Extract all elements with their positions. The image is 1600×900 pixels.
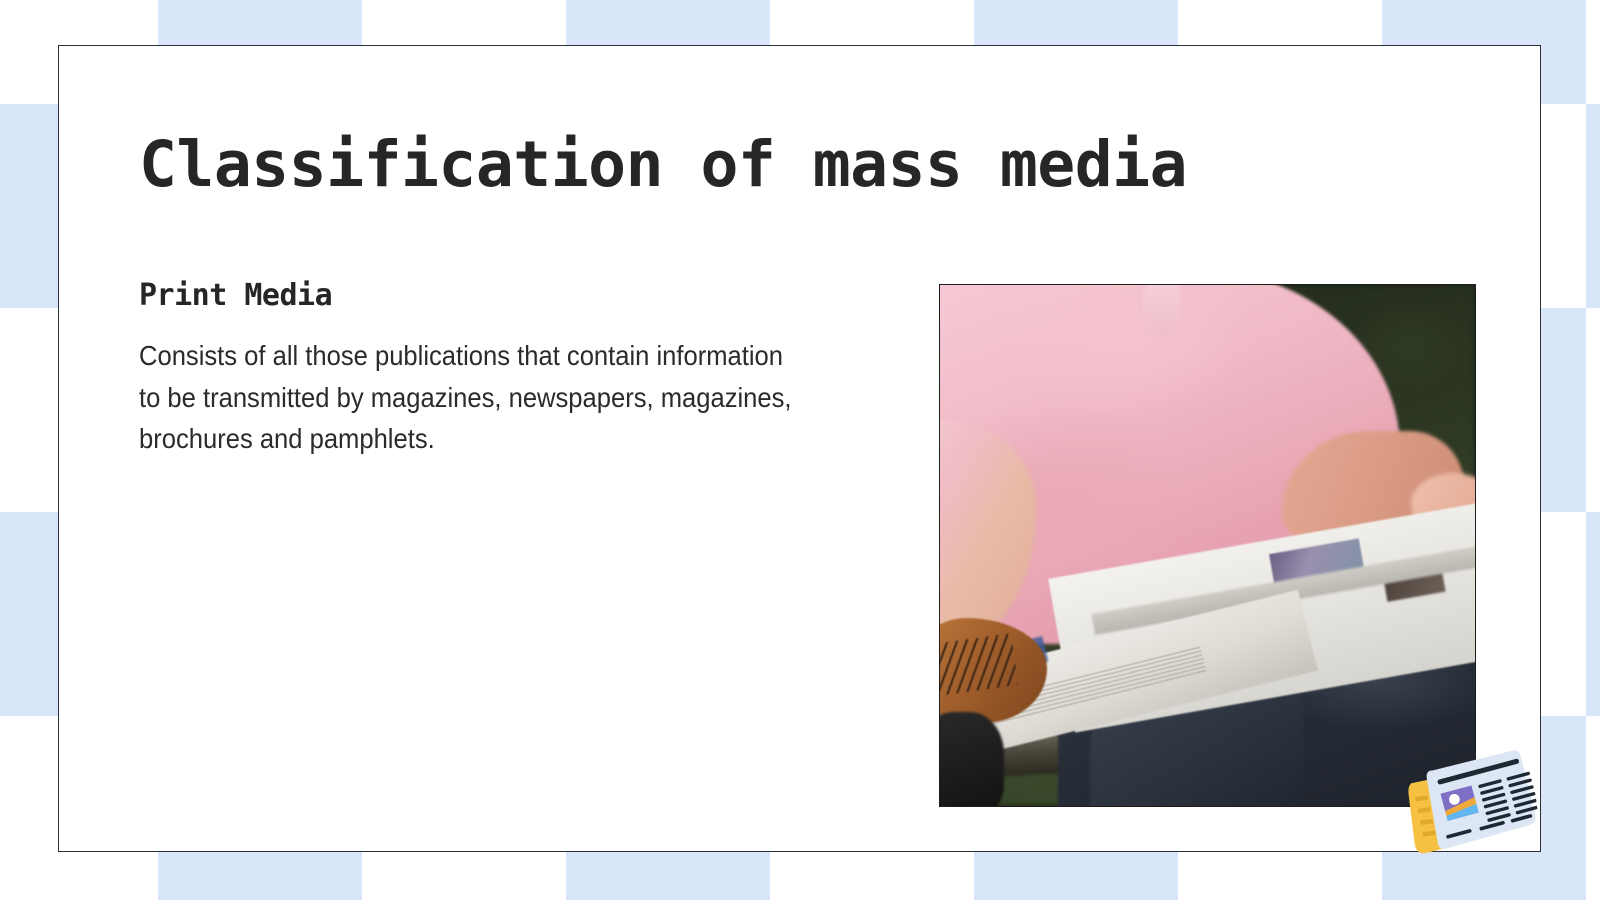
section-heading: Print Media bbox=[139, 278, 869, 313]
page-title: Classification of mass media bbox=[139, 128, 1187, 201]
newspaper-icon bbox=[1402, 745, 1541, 860]
slide-root: Classification of mass media Print Media… bbox=[0, 0, 1600, 900]
photo-ankle bbox=[939, 712, 1004, 807]
text-column: Print Media Consists of all those public… bbox=[139, 278, 869, 460]
slide-card: Classification of mass media Print Media… bbox=[58, 45, 1541, 852]
photo-newspaper-reader bbox=[939, 284, 1476, 807]
photo-shirt-placket bbox=[1143, 284, 1180, 337]
section-body-text: Consists of all those publications that … bbox=[139, 335, 804, 460]
